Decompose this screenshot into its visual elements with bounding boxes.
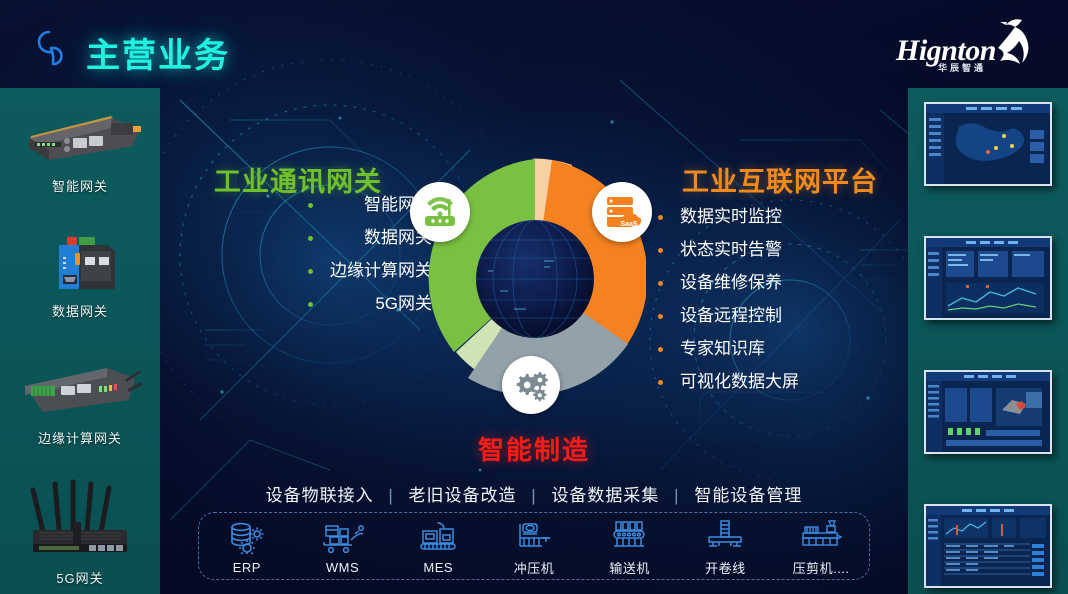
bullet-dot: [658, 248, 663, 253]
data-table-dashboard-screenshot[interactable]: [924, 504, 1052, 588]
list-item: 可视化数据大屏: [680, 373, 799, 390]
app-label: 开卷线: [683, 558, 767, 577]
warehouse-cart-icon: [301, 518, 385, 556]
sidebar-item-label: 智能网关: [0, 176, 160, 195]
swirl-circles-icon: [30, 27, 72, 69]
sidebar-item-smart-gateway[interactable]: 智能网关: [0, 98, 160, 195]
list-item: 数据实时监控: [680, 208, 799, 225]
bullet-dot: [658, 314, 663, 319]
smart-manufacturing-title: 智能制造: [0, 430, 1068, 467]
left-column-title: 工业通讯网关: [214, 160, 382, 199]
bullet-dot: [308, 203, 313, 208]
bullet-dot: [308, 302, 313, 307]
database-gears-icon: [205, 518, 289, 556]
sidebar-item-label: 5G网关: [0, 568, 160, 587]
platform-screenshot-rail: [908, 88, 1068, 594]
bullet-dot: [658, 215, 663, 220]
subitem: 老旧设备改造: [409, 486, 517, 505]
gears-icon[interactable]: [502, 356, 560, 414]
list-item: 5G网关: [330, 295, 432, 312]
chart-dashboard-screenshot[interactable]: [924, 236, 1052, 320]
page-header: 主营业务 Hignton 华辰智通: [0, 0, 1068, 88]
separator: |: [674, 486, 679, 505]
smart-gateway-device-photo: [15, 98, 145, 172]
data-gateway-device-photo: [15, 223, 145, 297]
slide-canvas: 主营业务 Hignton 华辰智通: [0, 0, 1068, 594]
smart-manufacturing-subitems: 设备物联接入 | 老旧设备改造 | 设备数据采集 | 智能设备管理: [0, 481, 1068, 506]
right-column-bullets: 数据实时监控 状态实时告警 设备维修保养 设备远程控制 专家知识库 可视化数据大…: [680, 208, 799, 406]
app-stamping-press[interactable]: 冲压机: [492, 516, 576, 577]
bullet-dot: [658, 281, 663, 286]
sidebar-item-data-gateway[interactable]: 数据网关: [0, 223, 160, 320]
app-label: 压剪机....: [779, 558, 863, 577]
list-item: 专家知识库: [680, 340, 799, 357]
sidebar-item-label: 数据网关: [0, 301, 160, 320]
edge-computing-gateway-device-photo: [15, 350, 145, 424]
map-dashboard-screenshot[interactable]: [924, 102, 1052, 186]
list-item: 设备远程控制: [680, 307, 799, 324]
right-column-title: 工业互联网平台: [682, 160, 878, 199]
svg-text:SaaS: SaaS: [620, 221, 637, 228]
page-title: 主营业务: [86, 28, 230, 77]
app-shearing-machine[interactable]: 压剪机....: [779, 516, 863, 577]
separator: |: [531, 486, 536, 505]
app-label: ERP: [205, 560, 289, 575]
bullet-dot: [658, 380, 663, 385]
uncoiling-line-icon: [683, 516, 767, 554]
list-item: 边缘计算网关: [330, 262, 432, 279]
app-conveyor[interactable]: 输送机: [588, 516, 672, 577]
separator: |: [388, 486, 393, 505]
list-item: 设备维修保养: [680, 274, 799, 291]
conveyor-machine-icon: [588, 516, 672, 554]
stamping-press-icon: [492, 516, 576, 554]
app-erp[interactable]: ERP: [205, 518, 289, 575]
subitem: 设备物联接入: [266, 486, 374, 505]
application-strip: ERP WMS: [198, 512, 870, 580]
brand-logo: Hignton 华辰智通: [894, 14, 1044, 76]
bullet-dot: [658, 347, 663, 352]
bullet-dot: [308, 269, 313, 274]
workstation-conveyor-icon: [396, 518, 480, 556]
app-mes[interactable]: MES: [396, 518, 480, 575]
app-uncoiling-line[interactable]: 开卷线: [683, 516, 767, 577]
brand-subtitle: 华辰智通: [938, 61, 986, 74]
bullet-dot: [308, 236, 313, 241]
app-label: MES: [396, 560, 480, 575]
shearing-machine-icon: [779, 516, 863, 554]
router-icon[interactable]: [410, 182, 470, 242]
subitem: 智能设备管理: [694, 486, 802, 505]
list-item: 状态实时告警: [680, 241, 799, 258]
app-label: 冲压机: [492, 558, 576, 577]
app-label: WMS: [301, 560, 385, 575]
app-wms[interactable]: WMS: [301, 518, 385, 575]
saas-server-icon[interactable]: SaaS: [592, 182, 652, 242]
app-label: 输送机: [588, 558, 672, 577]
subitem: 设备数据采集: [551, 486, 659, 505]
product-sidebar: 智能网关 数据网关: [0, 88, 160, 594]
